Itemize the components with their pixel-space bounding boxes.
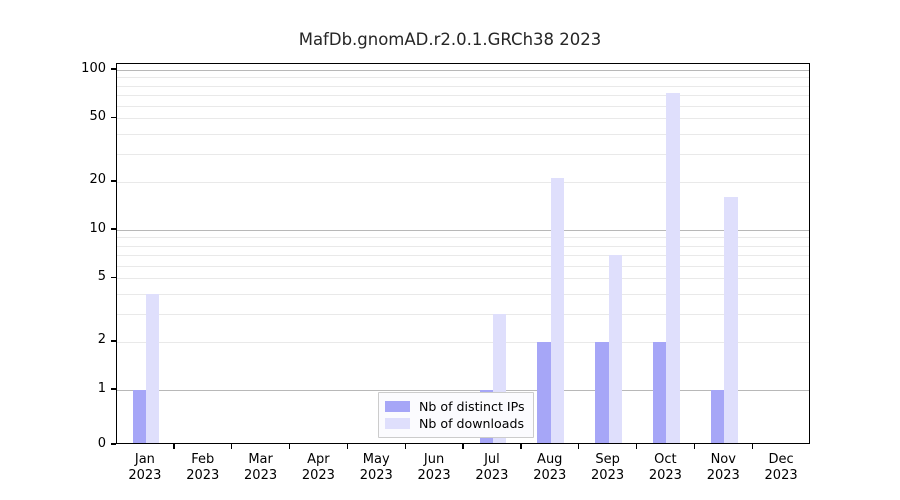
x-tick-mark bbox=[694, 444, 695, 449]
legend-label-distinct-ips: Nb of distinct IPs bbox=[419, 399, 525, 414]
x-tick-label-dec: Dec2023 bbox=[736, 452, 826, 484]
x-tick-mark bbox=[347, 444, 348, 449]
bar-downloads-aug bbox=[551, 178, 564, 443]
chart-figure: MafDb.gnomAD.r2.0.1.GRCh38 2023 01251020… bbox=[0, 0, 900, 500]
y-tick-label: 0 bbox=[36, 436, 106, 451]
x-tick-mark bbox=[752, 444, 753, 449]
bar-downloads-jan bbox=[146, 294, 159, 443]
bar-distinct-ips-nov bbox=[711, 390, 724, 443]
legend-item-downloads: Nb of downloads bbox=[385, 415, 525, 432]
plot-area bbox=[116, 63, 810, 444]
y-tick-label: 1 bbox=[36, 381, 106, 396]
legend-item-distinct-ips: Nb of distinct IPs bbox=[385, 398, 525, 415]
bar-downloads-nov bbox=[724, 197, 737, 443]
x-tick-mark bbox=[636, 444, 637, 449]
bar-distinct-ips-sep bbox=[595, 342, 608, 443]
x-tick-mark bbox=[289, 444, 290, 449]
x-tick-mark bbox=[520, 444, 521, 449]
bar-downloads-sep bbox=[609, 255, 622, 443]
legend-label-downloads: Nb of downloads bbox=[419, 416, 524, 431]
bar-distinct-ips-jan bbox=[133, 390, 146, 443]
y-tick-label: 2 bbox=[36, 332, 106, 347]
y-tick-label: 100 bbox=[36, 61, 106, 76]
y-tick-label: 10 bbox=[36, 221, 106, 236]
y-tick-label: 50 bbox=[36, 109, 106, 124]
bar-distinct-ips-oct bbox=[653, 342, 666, 443]
y-tick-label: 20 bbox=[36, 172, 106, 187]
bar-series-layer bbox=[117, 64, 809, 443]
legend-swatch-distinct-ips bbox=[385, 401, 410, 412]
x-tick-mark bbox=[578, 444, 579, 449]
chart-legend: Nb of distinct IPs Nb of downloads bbox=[378, 392, 534, 438]
bar-downloads-oct bbox=[666, 93, 679, 443]
chart-title: MafDb.gnomAD.r2.0.1.GRCh38 2023 bbox=[0, 30, 900, 49]
x-tick-mark bbox=[462, 444, 463, 449]
x-tick-mark bbox=[231, 444, 232, 449]
legend-swatch-downloads bbox=[385, 418, 410, 429]
x-tick-mark bbox=[173, 444, 174, 449]
y-tick-label: 5 bbox=[36, 269, 106, 284]
bar-distinct-ips-aug bbox=[537, 342, 550, 443]
x-tick-mark bbox=[405, 444, 406, 449]
